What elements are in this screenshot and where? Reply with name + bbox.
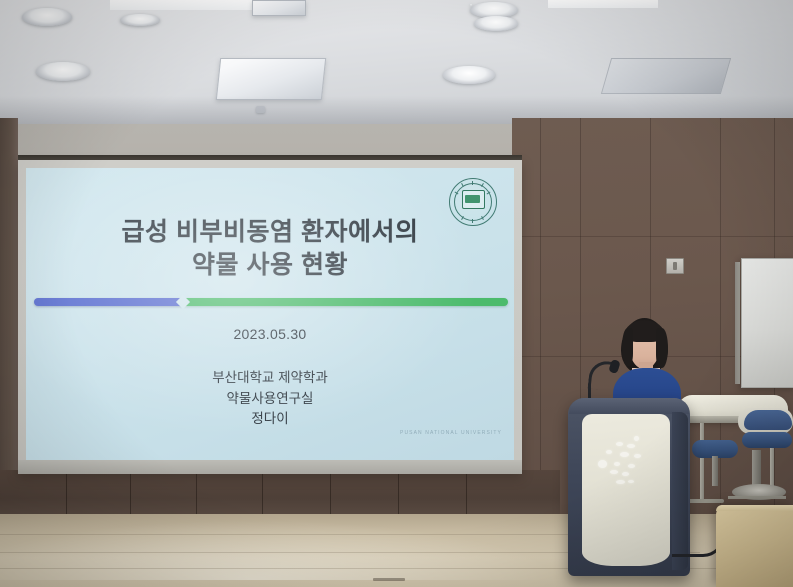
screen-bottom-edge: [18, 460, 522, 474]
affiliation-department: 부산대학교 제약학과: [26, 368, 514, 389]
presenter-name: 정다이: [26, 409, 514, 430]
ceiling-downlight-icon: [474, 16, 518, 31]
wall-seam: [540, 118, 541, 518]
ceiling-panel-light: [252, 0, 306, 16]
floor-marking: [373, 578, 405, 581]
ceiling-vent-panel: [601, 58, 731, 94]
affiliation-lab: 약물사용연구실: [26, 389, 514, 410]
side-table-foot: [686, 499, 724, 503]
ceiling-downlight-icon: [22, 8, 72, 26]
slide-title-line-2: 약물 사용 현황: [26, 249, 514, 282]
divider-blue-segment: [34, 298, 184, 306]
ceiling-panel-light: [216, 58, 326, 100]
presenter-hair-right: [656, 328, 668, 368]
ceiling-light-strip: [548, 0, 658, 8]
slide-footer-text: PUSAN NATIONAL UNIVERSITY: [26, 430, 502, 436]
slide-divider: [34, 298, 508, 306]
chair[interactable]: [692, 440, 740, 496]
chair-foot-ring: [728, 496, 786, 499]
ceiling-light-strip: [110, 0, 260, 10]
wall-switch-plate[interactable]: [666, 258, 684, 274]
chair-post: [712, 456, 718, 486]
left-wall-return: [0, 118, 18, 518]
floor-reflection: [0, 520, 560, 580]
slide-title: 급성 비부비동염 환자에서의 약물 사용 현황: [26, 216, 514, 282]
chair-backrest: [744, 410, 792, 430]
divider-green-segment: [185, 298, 508, 306]
microphone-icon: [588, 355, 622, 403]
chair-post: [752, 450, 761, 488]
podium-emblem-icon: [594, 436, 650, 488]
ceiling-downlight-icon: [120, 14, 160, 26]
wall-seam: [512, 236, 793, 237]
slide-date: 2023.05.30: [26, 326, 514, 342]
whiteboard-edge: [735, 262, 740, 384]
projected-slide: 급성 비부비동염 환자에서의 약물 사용 현황 2023.05.30 부산대학교…: [26, 168, 514, 460]
lecture-hall-photo: 급성 비부비동염 환자에서의 약물 사용 현황 2023.05.30 부산대학교…: [0, 0, 793, 587]
slide-title-line-1: 급성 비부비동염 환자에서의: [122, 218, 419, 246]
ceiling-downlight-icon: [36, 62, 90, 81]
ceiling-downlight-icon: [470, 4, 472, 6]
foreground-desk-edge: [716, 505, 793, 511]
slide-affiliation: 부산대학교 제약학과 약물사용연구실 정다이: [26, 368, 514, 430]
presenter-hair-left: [622, 328, 633, 366]
whiteboard: [741, 258, 793, 388]
podium-top-surface: [569, 398, 689, 414]
ceiling-downlight-icon: [443, 66, 495, 84]
foreground-desk: [716, 505, 793, 587]
